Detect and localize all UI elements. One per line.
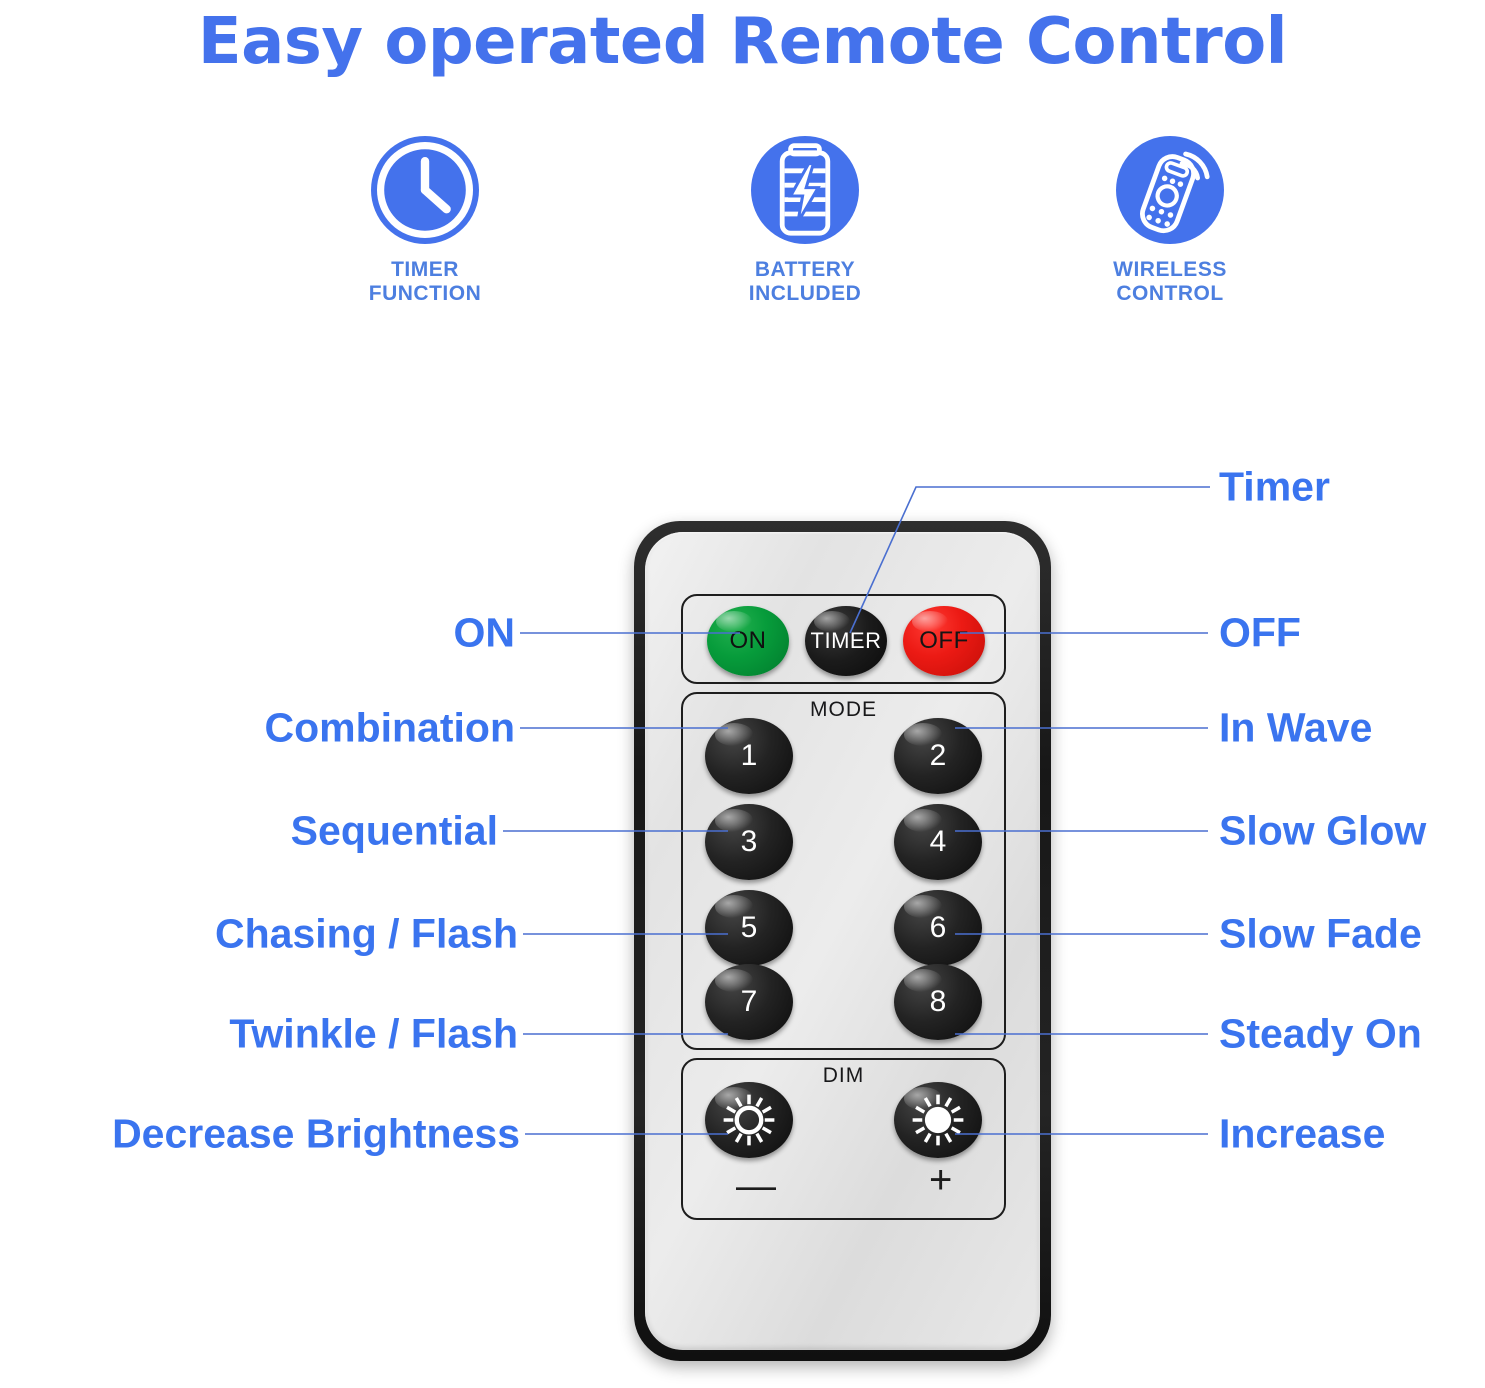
feature-caption: TIMER FUNCTION — [310, 258, 540, 306]
mode-button-3[interactable]: 3 — [705, 804, 793, 880]
callout-on: ON — [120, 613, 515, 654]
mode-button-6[interactable]: 6 — [894, 890, 982, 966]
increase-brightness-button[interactable] — [894, 1082, 982, 1158]
mode-button-label: 4 — [930, 825, 947, 859]
feature-wireless-control: WIRELESS CONTROL — [1055, 130, 1285, 306]
remote-faceplate: ON TIMER OFF MODE 1 2 3 4 5 6 7 8 — [645, 532, 1040, 1350]
dim-plus-symbol: + — [929, 1160, 952, 1200]
callout-twinkle-flash: Twinkle / Flash — [120, 1014, 518, 1055]
timer-button[interactable]: TIMER — [805, 606, 887, 676]
callout-timer: Timer — [1219, 467, 1330, 508]
mode-button-8[interactable]: 8 — [894, 964, 982, 1040]
feature-timer-function: TIMER FUNCTION — [310, 130, 540, 306]
mode-button-label: 3 — [741, 825, 758, 859]
feature-caption-line2: CONTROL — [1116, 282, 1223, 305]
dim-panel: DIM — [681, 1058, 1006, 1220]
mode-button-label: 2 — [930, 739, 947, 773]
clock-icon — [365, 130, 485, 250]
remote-signal-icon — [1110, 130, 1230, 250]
callout-sequential: Sequential — [120, 811, 498, 852]
feature-caption: WIRELESS CONTROL — [1055, 258, 1285, 306]
mode-button-label: 5 — [741, 911, 758, 945]
feature-caption-line1: BATTERY — [755, 258, 855, 281]
feature-caption-line2: INCLUDED — [749, 282, 862, 305]
callout-in-wave: In Wave — [1219, 708, 1372, 749]
callout-steady-on: Steady On — [1219, 1014, 1422, 1055]
mode-button-label: 8 — [930, 985, 947, 1019]
mode-panel: MODE 1 2 3 4 5 6 7 8 — [681, 692, 1006, 1050]
mode-button-4[interactable]: 4 — [894, 804, 982, 880]
mode-button-label: 6 — [930, 911, 947, 945]
mode-button-5[interactable]: 5 — [705, 890, 793, 966]
mode-panel-label: MODE — [683, 698, 1004, 722]
sun-hollow-icon — [721, 1092, 777, 1148]
mode-button-label: 7 — [741, 985, 758, 1019]
callout-chasing-flash: Chasing / Flash — [120, 914, 518, 955]
feature-battery-included: BATTERY INCLUDED — [690, 130, 920, 306]
decrease-brightness-button[interactable] — [705, 1082, 793, 1158]
off-button-label: OFF — [919, 627, 969, 655]
mode-button-label: 1 — [741, 739, 758, 773]
callout-combination: Combination — [120, 708, 515, 749]
callout-slow-glow: Slow Glow — [1219, 811, 1426, 852]
mode-button-1[interactable]: 1 — [705, 718, 793, 794]
page-title: Easy operated Remote Control — [0, 2, 1485, 82]
battery-icon — [745, 130, 865, 250]
power-panel: ON TIMER OFF — [681, 594, 1006, 684]
callout-decrease-brightness: Decrease Brightness — [0, 1114, 520, 1155]
product-infographic: Easy operated Remote Control TIMER FUNCT… — [0, 0, 1485, 1388]
off-button[interactable]: OFF — [903, 606, 985, 676]
on-button[interactable]: ON — [707, 606, 789, 676]
feature-caption-line2: FUNCTION — [369, 282, 482, 305]
sun-filled-icon — [910, 1092, 966, 1148]
remote-control-device: ON TIMER OFF MODE 1 2 3 4 5 6 7 8 — [634, 521, 1051, 1361]
feature-caption-line1: WIRELESS — [1113, 258, 1227, 281]
mode-button-7[interactable]: 7 — [705, 964, 793, 1040]
callout-slow-fade: Slow Fade — [1219, 914, 1422, 955]
timer-button-label: TIMER — [811, 628, 882, 654]
callout-increase: Increase — [1219, 1114, 1385, 1155]
dim-minus-symbol: — — [736, 1166, 776, 1206]
callout-off: OFF — [1219, 613, 1301, 654]
on-button-label: ON — [730, 627, 767, 655]
mode-button-2[interactable]: 2 — [894, 718, 982, 794]
feature-caption-line1: TIMER — [391, 258, 459, 281]
feature-caption: BATTERY INCLUDED — [690, 258, 920, 306]
